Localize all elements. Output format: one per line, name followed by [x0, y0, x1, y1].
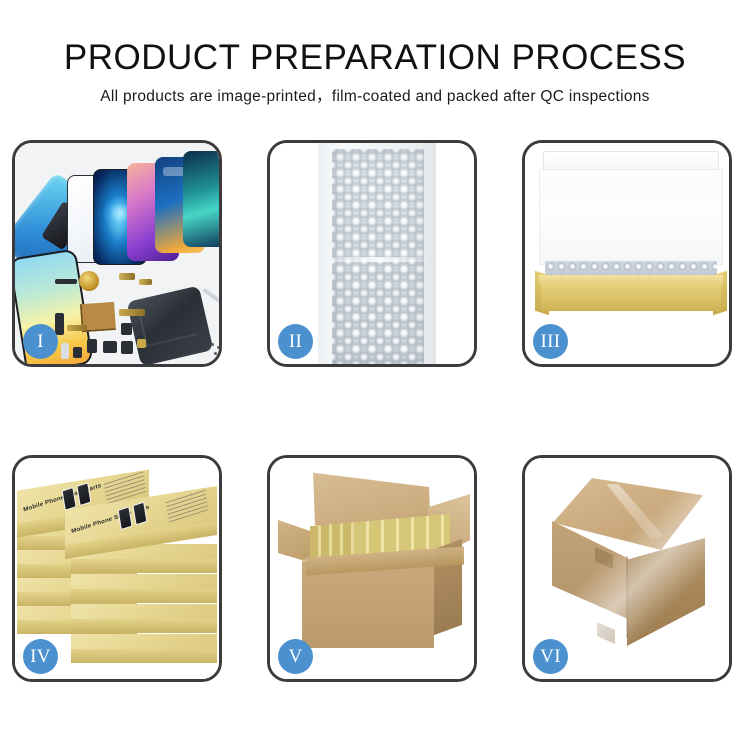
list-item: [71, 604, 217, 620]
step-badge-3: III: [533, 324, 568, 359]
step-panel-6: VI: [522, 455, 732, 682]
speaker-part-icon: [55, 279, 77, 284]
carton-vertical-edge-icon: [626, 556, 628, 638]
charging-port-flex-part-icon: [119, 309, 145, 316]
button-flex-part-icon: [139, 279, 152, 285]
sim-tray-part-icon: [87, 339, 97, 353]
bubble-wrap-seam-icon: [330, 257, 426, 262]
screws-icon: [211, 343, 214, 346]
camera-module-part-icon: [55, 313, 64, 335]
process-steps-grid: I II III: [12, 140, 739, 682]
sim-ejector-part-icon: [61, 343, 69, 359]
step-badge-6: VI: [533, 639, 568, 674]
wireless-charging-coil-icon: [79, 271, 99, 291]
list-item: [71, 574, 217, 590]
flex-cable-part-icon: [119, 273, 135, 280]
step-panel-3: III: [522, 140, 732, 367]
teal-gradient-phone-icon: [183, 151, 219, 247]
carton-front-face-icon: [302, 562, 434, 648]
step-badge-4: IV: [23, 639, 58, 674]
step-badge-2: II: [278, 324, 313, 359]
page-title: PRODUCT PREPARATION PROCESS: [0, 38, 750, 78]
step-panel-2: II: [267, 140, 477, 367]
vibrator-motor-part-icon: [121, 323, 132, 335]
loudspeaker-part-icon: [121, 341, 133, 354]
product-preparation-infographic: PRODUCT PREPARATION PROCESS All products…: [0, 0, 750, 750]
box-front-panel-icon: [541, 283, 721, 311]
foam-sheet-icon: [541, 201, 721, 263]
step-panel-4: Mobile Phone Spare Parts: [12, 455, 222, 682]
screen-art-icon: [62, 487, 77, 511]
list-item: [71, 634, 217, 650]
small-bracket-part-icon: [73, 347, 82, 358]
page-subtitle: All products are image-printed，film-coat…: [0, 84, 750, 106]
step-badge-5: V: [278, 639, 313, 674]
antenna-flex-part-icon: [137, 339, 146, 348]
step-panel-5: V: [267, 455, 477, 682]
step-badge-1: I: [23, 324, 58, 359]
screen-art-icon: [118, 506, 133, 530]
earpiece-part-icon: [103, 341, 117, 353]
ribbon-cable-part-icon: [67, 325, 87, 331]
step-panel-1: I: [12, 140, 222, 367]
